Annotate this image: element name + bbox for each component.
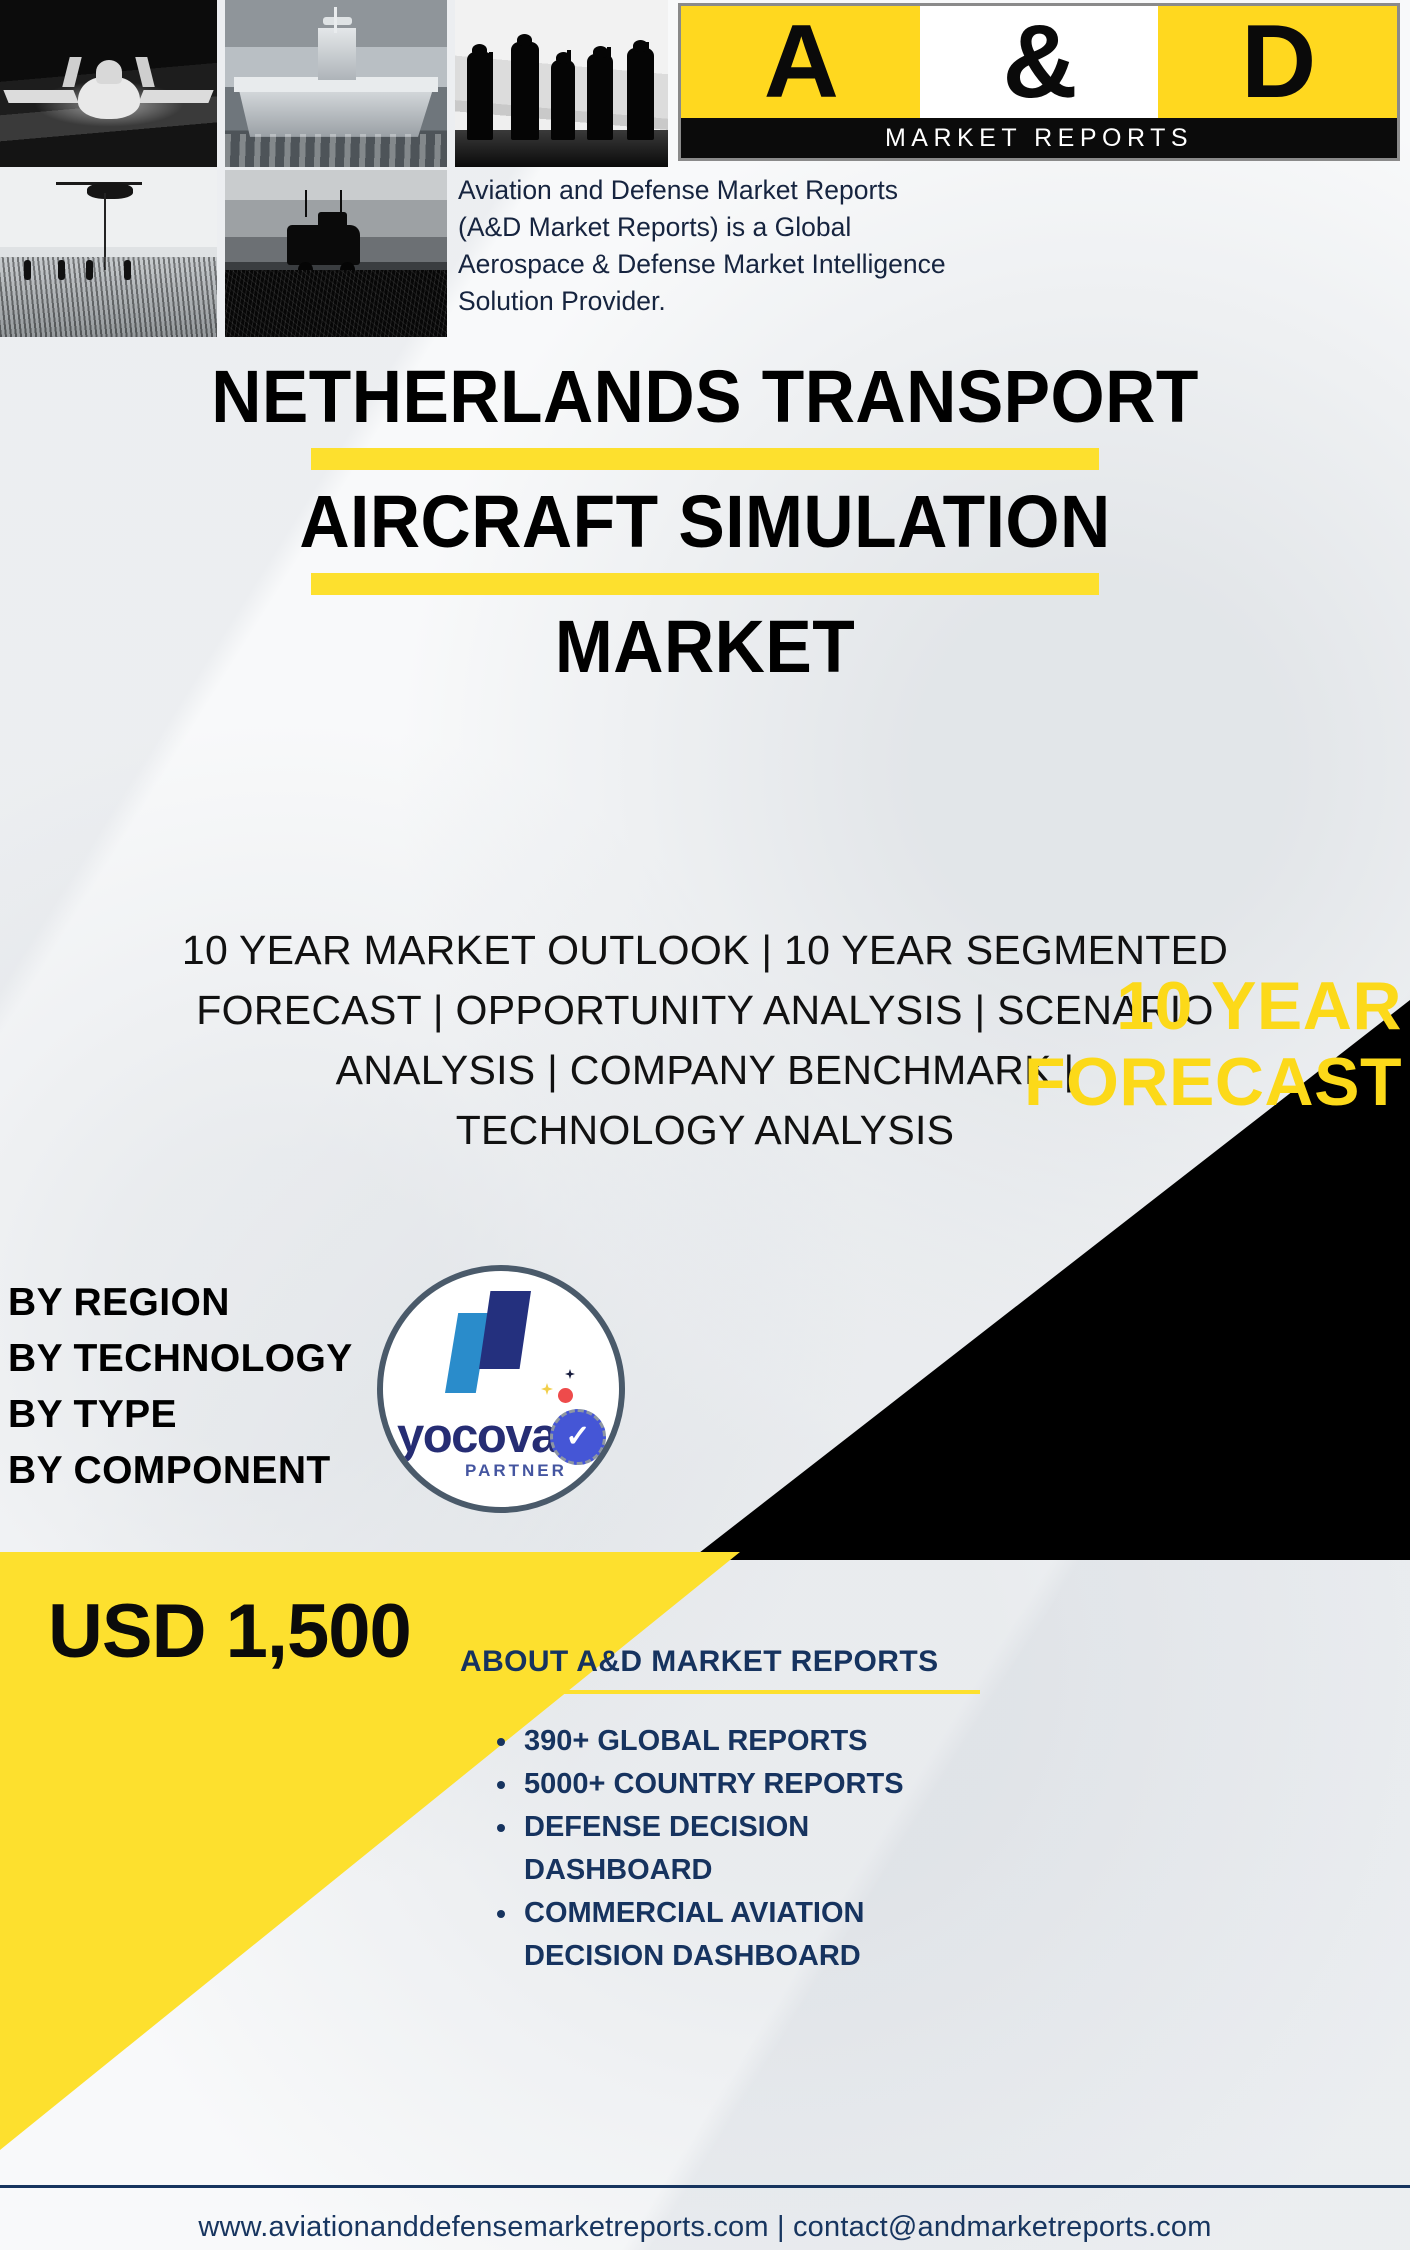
heli-trooper-3 <box>86 260 93 280</box>
title-highlight-bar-1 <box>311 448 1099 470</box>
yocova-dark-wedge-icon <box>479 1291 531 1369</box>
yocova-red-dot-icon <box>558 1388 573 1403</box>
logo-block-ampersand: & <box>920 6 1159 118</box>
yocova-wordmark: yocova <box>397 1411 567 1461</box>
segment-item-region: BY REGION <box>8 1275 438 1331</box>
heli-trooper-4 <box>124 260 131 280</box>
segment-item-technology: BY TECHNOLOGY <box>8 1331 438 1387</box>
carrier-radar <box>323 17 352 25</box>
yocova-partner-label: PARTNER <box>465 1461 567 1481</box>
title-line-1: NETHERLANDS TRANSPORT <box>42 355 1367 439</box>
armored-vehicle-photo <box>225 170 447 337</box>
forecast-banner-text: 10 YEAR FORECAST <box>782 968 1402 1120</box>
carrier-mast <box>334 7 337 34</box>
report-title: NETHERLANDS TRANSPORT AIRCRAFT SIMULATIO… <box>0 355 1410 689</box>
soldier-3 <box>551 60 575 140</box>
yocova-navy-sparkle-icon <box>565 1369 575 1379</box>
intro-line-3: Aerospace & Defense Market Intelligence <box>458 246 986 283</box>
title-highlight-bar-2 <box>311 573 1099 595</box>
vehicle-hull <box>287 225 360 265</box>
carrier-hull <box>238 87 433 137</box>
logo-letter-a: A <box>764 18 837 106</box>
forecast-line-1: 10 YEAR <box>782 968 1402 1044</box>
heli-body <box>87 183 133 199</box>
logo-block-d: D <box>1158 6 1397 118</box>
logo-letter-d: D <box>1241 18 1314 106</box>
soldiers-silhouette-photo <box>455 0 668 167</box>
jet-left-wing <box>3 90 78 103</box>
footer-divider <box>0 2185 1410 2188</box>
logo-letter-blocks: A & D <box>681 6 1397 118</box>
footer-website-link[interactable]: www.aviationanddefensemarketreports.com <box>198 2211 768 2243</box>
segmentation-list: BY REGION BY TECHNOLOGY BY TYPE BY COMPO… <box>8 1275 438 1499</box>
vehicle-ground <box>225 270 447 337</box>
logo-tagline-bar: MARKET REPORTS <box>681 118 1397 158</box>
carrier-island-tower <box>318 28 356 80</box>
price-value: USD 1,500 <box>48 1588 411 1675</box>
jet-right-wing <box>138 90 213 103</box>
segment-item-component: BY COMPONENT <box>8 1443 438 1499</box>
soldier-4-rifle <box>607 47 611 127</box>
list-item: COMMERCIAL AVIATION DECISION DASHBOARD <box>520 1892 994 1978</box>
soldier-1-helmet <box>472 44 487 56</box>
vehicle-antenna-1 <box>305 190 307 217</box>
segment-item-type: BY TYPE <box>8 1387 438 1443</box>
intro-line-2: (A&D Market Reports) is a Global <box>458 209 986 246</box>
heli-grass-texture <box>0 257 217 337</box>
soldier-2-rifle <box>525 38 529 124</box>
logo-tagline-text: MARKET REPORTS <box>885 124 1193 153</box>
ad-market-reports-logo: A & D MARKET REPORTS <box>678 3 1400 161</box>
jet-nose <box>96 60 122 84</box>
footer-separator: | <box>769 2211 793 2243</box>
soldier-1-rifle <box>489 52 493 130</box>
about-bullet-list: 390+ GLOBAL REPORTS 5000+ COUNTRY REPORT… <box>494 1720 994 1978</box>
list-item: 390+ GLOBAL REPORTS <box>520 1720 994 1763</box>
intro-line-1: Aviation and Defense Market Reports <box>458 172 986 209</box>
title-line-3: MARKET <box>42 605 1367 689</box>
company-intro-paragraph: Aviation and Defense Market Reports (A&D… <box>458 172 986 320</box>
yocova-partner-badge: yocova PARTNER ✓ <box>377 1265 625 1513</box>
title-line-2: AIRCRAFT SIMULATION <box>42 480 1367 564</box>
intro-line-4: Solution Provider. <box>458 283 986 320</box>
about-section-heading: ABOUT A&D MARKET REPORTS <box>460 1645 980 1687</box>
fighter-jet-photo <box>0 0 217 167</box>
footer-email-link[interactable]: contact@andmarketreports.com <box>793 2211 1212 2243</box>
helicopter-fast-rope-photo <box>0 170 217 337</box>
footer-contact-bar: www.aviationanddefensemarketreports.com … <box>0 2211 1410 2244</box>
heli-trooper-1 <box>24 260 31 280</box>
list-item: DEFENSE DECISION DASHBOARD <box>520 1806 994 1892</box>
about-heading-underline <box>460 1690 980 1694</box>
logo-block-a: A <box>681 6 920 118</box>
soldier-5-rifle <box>645 42 649 124</box>
soldier-3-rifle <box>567 50 571 124</box>
flyer-page: A & D MARKET REPORTS Aviation and Defens… <box>0 0 1410 2250</box>
checkmark-icon: ✓ <box>565 1422 590 1452</box>
yocova-yellow-sparkle-icon <box>541 1383 553 1395</box>
soldier-4-helmet <box>593 46 608 58</box>
heli-trooper-2 <box>58 260 65 280</box>
logo-letter-ampersand: & <box>1002 18 1075 106</box>
verified-seal-icon: ✓ <box>550 1409 606 1465</box>
aircraft-carrier-photo <box>225 0 447 167</box>
soldier-5 <box>627 48 654 140</box>
carrier-wake <box>225 134 447 167</box>
list-item: 5000+ COUNTRY REPORTS <box>520 1763 994 1806</box>
forecast-line-2: FORECAST <box>782 1044 1402 1120</box>
